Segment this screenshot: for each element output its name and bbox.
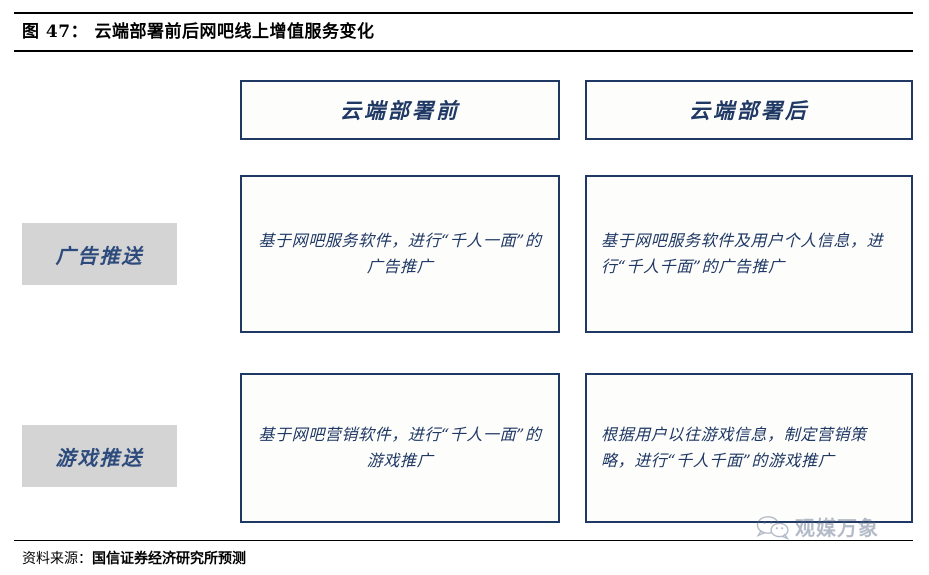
cell-game-before: 基于网吧营销软件，进行“千人一面”的游戏推广 — [240, 373, 560, 523]
title-rule-bottom — [14, 50, 913, 52]
source-note: 资料来源：国信证券经济研究所预测 — [22, 548, 246, 570]
cell-advertising-after: 基于网吧服务软件及用户个人信息，进行“千人千面”的广告推广 — [585, 175, 913, 333]
cell-advertising-before: 基于网吧服务软件，进行“千人一面”的广告推广 — [240, 175, 560, 333]
column-header-after: 云端部署后 — [585, 80, 913, 140]
footer-rule — [14, 540, 913, 541]
page-title: 图 47： 云端部署前后网吧线上增值服务变化 — [22, 17, 375, 47]
cell-advertising-after-text: 基于网吧服务软件及用户个人信息，进行“千人千面”的广告推广 — [587, 228, 911, 280]
column-header-after-label: 云端部署后 — [689, 95, 809, 125]
column-header-before: 云端部署前 — [240, 80, 560, 140]
row-label-advertising-text: 广告推送 — [56, 240, 144, 269]
cell-game-before-text: 基于网吧营销软件，进行“千人一面”的游戏推广 — [242, 422, 558, 474]
row-label-advertising: 广告推送 — [22, 223, 177, 285]
column-header-before-label: 云端部署前 — [340, 95, 460, 125]
cell-advertising-before-text: 基于网吧服务软件，进行“千人一面”的广告推广 — [242, 228, 558, 280]
source-note-label: 资料来源： — [22, 551, 92, 567]
row-label-game-text: 游戏推送 — [56, 442, 144, 471]
source-note-value: 国信证券经济研究所预测 — [92, 551, 246, 567]
row-label-game: 游戏推送 — [22, 425, 177, 487]
figure-container: 图 47： 云端部署前后网吧线上增值服务变化 云端部署前 云端部署后 广告推送 … — [0, 0, 929, 575]
cell-game-after: 根据用户以往游戏信息，制定营销策略，进行“千人千面”的游戏推广 — [585, 373, 913, 523]
cell-game-after-text: 根据用户以往游戏信息，制定营销策略，进行“千人千面”的游戏推广 — [587, 422, 911, 474]
title-rule-top — [14, 12, 913, 14]
